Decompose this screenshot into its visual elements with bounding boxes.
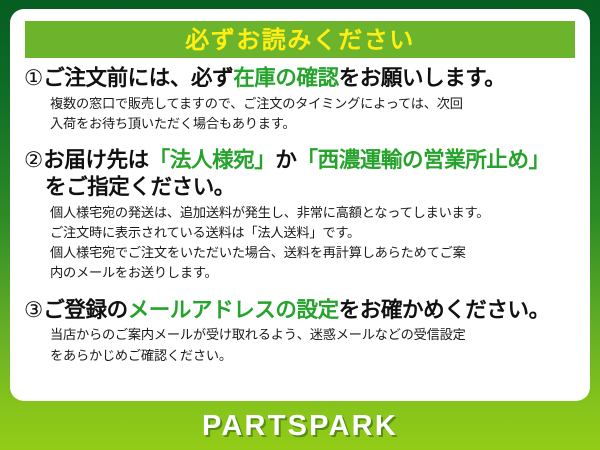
item-3-heading-highlight: メールアドレスの設定: [128, 298, 339, 323]
item-1-heading-part-3: をお願いします。: [339, 66, 506, 91]
list-item: ②お届け先は「法人様宛」か「西濃運輸の営業所止め」 をご指定ください。 個人様宅…: [10, 147, 590, 284]
item-2-heading-part-3: か: [275, 148, 296, 173]
item-2-marker: ②: [24, 148, 43, 173]
item-3-heading-part-1: ご登録の: [43, 298, 127, 323]
item-3-body-line-2: をあらかじめご確認ください。: [50, 347, 578, 367]
item-3-body-line-1: 当店からのご案内メールが受け取れるよう、迷惑メールなどの受信設定: [50, 326, 578, 346]
footer-band: PARTSPARK: [0, 402, 600, 450]
notice-banner: 必ずお読みください ①ご注文前には、必ず在庫の確認をお願いします。 複数の窓口で…: [0, 0, 600, 450]
item-2-body-line-1: 個人様宅宛の発送は、追加送料が発生し、非常に高額となってしまいます。: [50, 204, 578, 224]
notice-card: 必ずお読みください ①ご注文前には、必ず在庫の確認をお願いします。 複数の窓口で…: [10, 9, 590, 401]
item-1-body-line-1: 複数の窓口で販売してますので、ご注文のタイミングによっては、次回: [50, 95, 578, 115]
item-2-heading: ②お届け先は「法人様宛」か「西濃運輸の営業所止め」 をご指定ください。: [24, 147, 578, 202]
item-1-marker: ①: [24, 66, 43, 91]
page-title: 必ずお読みください: [185, 28, 415, 52]
item-3-body: 当店からのご案内メールが受け取れるよう、迷惑メールなどの受信設定 をあらかじめご…: [24, 326, 578, 366]
item-1-heading-part-1: ご注文前には、必ず: [43, 66, 233, 91]
item-2-body-line-2: ご注文時に表示されている送料は「法人送料」です。: [50, 224, 578, 244]
item-1-body-line-2: 入荷をお待ち頂いただく場合もあります。: [50, 115, 578, 135]
list-item: ①ご注文前には、必ず在庫の確認をお願いします。 複数の窓口で販売してますので、ご…: [10, 65, 590, 135]
item-2-heading-highlight-2: 「西濃運輸の営業所止め」: [297, 148, 550, 173]
partspark-logo: PARTSPARK: [202, 410, 398, 443]
item-3-heading-part-3: をお確かめください。: [339, 298, 550, 323]
notice-list: ①ご注文前には、必ず在庫の確認をお願いします。 複数の窓口で販売してますので、ご…: [10, 65, 590, 367]
item-2-heading-line-2: をご指定ください。: [24, 174, 578, 202]
item-3-heading: ③ご登録のメールアドレスの設定をお確かめください。: [24, 297, 578, 325]
item-2-heading-part-1: お届け先は: [43, 148, 149, 173]
list-item: ③ご登録のメールアドレスの設定をお確かめください。 当店からのご案内メールが受け…: [10, 297, 590, 367]
item-2-body-line-3: 個人様宅宛でご注文をいただいた場合、送料を再計算しあらためてご案: [50, 244, 578, 264]
item-1-heading-highlight: 在庫の確認: [233, 66, 339, 91]
item-3-marker: ③: [24, 298, 43, 323]
item-2-body: 個人様宅宛の発送は、追加送料が発生し、非常に高額となってしまいます。 ご注文時に…: [24, 204, 578, 284]
title-strip: 必ずお読みください: [25, 21, 575, 58]
item-2-body-line-4: 内のメールをお送りします。: [50, 264, 578, 284]
item-1-heading: ①ご注文前には、必ず在庫の確認をお願いします。: [24, 65, 578, 93]
item-2-heading-highlight-1: 「法人様宛」: [149, 148, 276, 173]
item-1-body: 複数の窓口で販売してますので、ご注文のタイミングによっては、次回 入荷をお待ち頂…: [24, 95, 578, 135]
